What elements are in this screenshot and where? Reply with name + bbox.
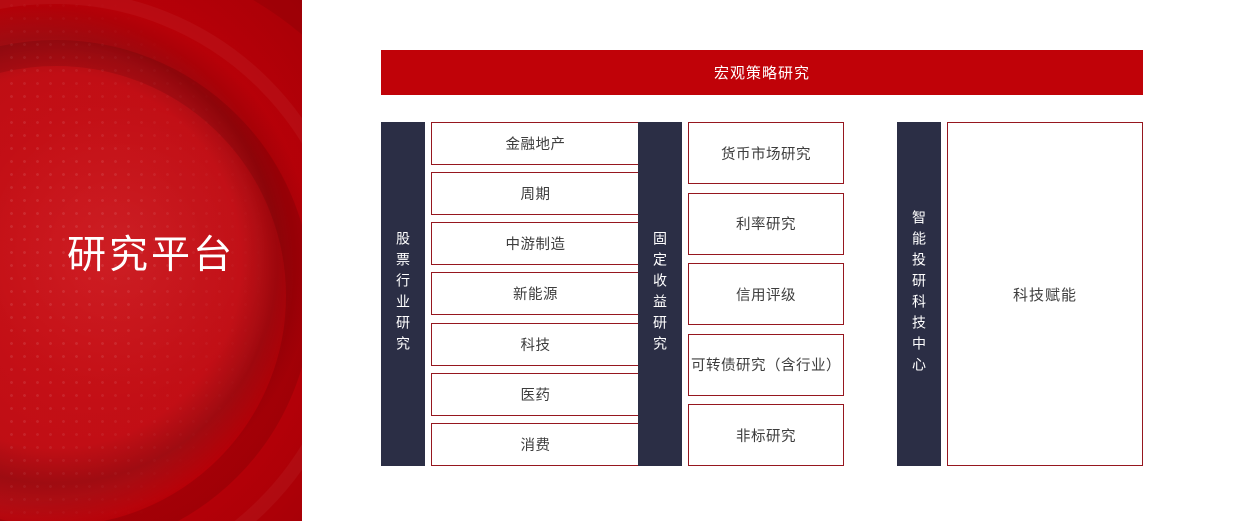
list-item[interactable]: 中游制造 xyxy=(431,222,640,265)
list-item-label: 可转债研究（含行业） xyxy=(691,354,841,375)
list-item-label: 周期 xyxy=(521,183,551,204)
list-item-label: 货币市场研究 xyxy=(721,143,811,164)
list-item[interactable]: 周期 xyxy=(431,172,640,215)
list-item-label: 中游制造 xyxy=(506,233,566,254)
list-item-label: 新能源 xyxy=(513,283,558,304)
decorative-ring-inner xyxy=(0,40,302,521)
macro-strategy-banner: 宏观策略研究 xyxy=(381,50,1143,95)
sidebar-equity-research[interactable]: 股票行业研究 xyxy=(381,122,425,466)
equity-item-list: 金融地产 周期 中游制造 新能源 科技 医药 消费 xyxy=(431,122,640,466)
tech-empowerment-panel-label: 科技赋能 xyxy=(1013,284,1077,305)
list-item-label: 利率研究 xyxy=(736,213,796,234)
list-item-label: 非标研究 xyxy=(736,425,796,446)
group-intelligent-research-tech-center: 智能投研科技中心 科技赋能 xyxy=(897,122,1143,466)
sidebar-fixed-income-research-label: 固定收益研究 xyxy=(653,231,667,357)
sidebar-intelligent-research-tech-center-label: 智能投研科技中心 xyxy=(912,210,926,378)
list-item[interactable]: 医药 xyxy=(431,373,640,416)
list-item[interactable]: 金融地产 xyxy=(431,122,640,165)
list-item[interactable]: 科技 xyxy=(431,323,640,366)
list-item-label: 医药 xyxy=(521,384,551,405)
list-item[interactable]: 非标研究 xyxy=(688,404,844,466)
sidebar-equity-research-label: 股票行业研究 xyxy=(396,231,410,357)
tech-empowerment-panel[interactable]: 科技赋能 xyxy=(947,122,1143,466)
list-item[interactable]: 信用评级 xyxy=(688,263,844,325)
list-item-label: 信用评级 xyxy=(736,284,796,305)
macro-strategy-banner-label: 宏观策略研究 xyxy=(714,62,810,83)
list-item-label: 金融地产 xyxy=(506,133,566,154)
research-platform-diagram: 宏观策略研究 股票行业研究 金融地产 周期 中游制造 新能源 科技 医药 xyxy=(381,0,1143,521)
list-item[interactable]: 可转债研究（含行业） xyxy=(688,334,844,396)
group-equity-research: 股票行业研究 金融地产 周期 中游制造 新能源 科技 医药 消费 xyxy=(381,122,640,466)
hero-title: 研究平台 xyxy=(0,235,302,278)
list-item-label: 科技 xyxy=(521,334,551,355)
list-item[interactable]: 消费 xyxy=(431,423,640,466)
fixed-income-item-list: 货币市场研究 利率研究 信用评级 可转债研究（含行业） 非标研究 xyxy=(688,122,844,466)
sidebar-intelligent-research-tech-center[interactable]: 智能投研科技中心 xyxy=(897,122,941,466)
list-item[interactable]: 货币市场研究 xyxy=(688,122,844,184)
list-item[interactable]: 新能源 xyxy=(431,272,640,315)
list-item-label: 消费 xyxy=(521,434,551,455)
hero-panel: 研究平台 xyxy=(0,0,302,521)
list-item[interactable]: 利率研究 xyxy=(688,193,844,255)
group-fixed-income-research: 固定收益研究 货币市场研究 利率研究 信用评级 可转债研究（含行业） 非标研究 xyxy=(638,122,844,466)
sidebar-fixed-income-research[interactable]: 固定收益研究 xyxy=(638,122,682,466)
